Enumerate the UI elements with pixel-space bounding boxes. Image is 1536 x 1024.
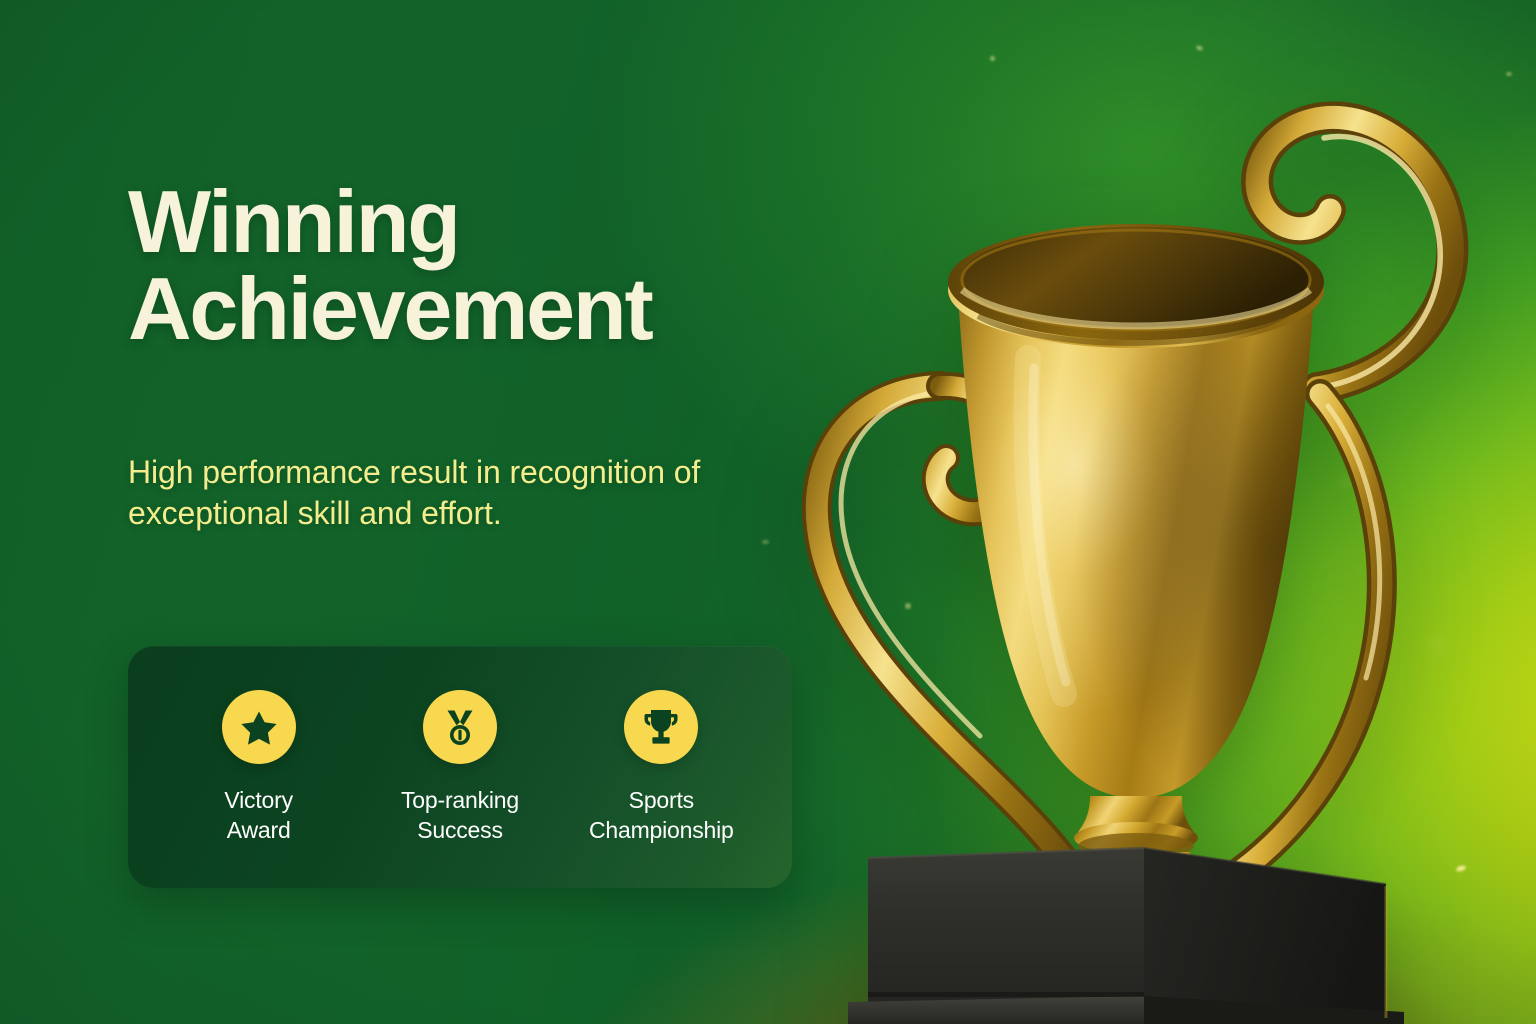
banner-content: Winning Achievement High performance res… bbox=[128, 0, 828, 1024]
star-icon bbox=[222, 690, 296, 764]
feature-label: Victory Award bbox=[224, 786, 292, 846]
page-subtitle: High performance result in recognition o… bbox=[128, 452, 708, 535]
achievement-banner: Winning Achievement High performance res… bbox=[0, 0, 1536, 1024]
feature-item-top-ranking-success[interactable]: Top-ranking Success bbox=[359, 690, 560, 846]
feature-label: Top-ranking Success bbox=[401, 786, 519, 846]
trophy-rim bbox=[948, 224, 1324, 348]
feature-card: Victory Award Top-ranking Success bbox=[128, 646, 792, 888]
trophy-pedestal-base bbox=[848, 848, 1404, 1024]
bokeh-speck bbox=[1506, 72, 1512, 76]
trophy-icon bbox=[624, 690, 698, 764]
feature-item-sports-championship[interactable]: Sports Championship bbox=[561, 690, 762, 846]
gold-trophy-image bbox=[772, 58, 1472, 1024]
feature-item-victory-award[interactable]: Victory Award bbox=[158, 690, 359, 846]
medal-icon bbox=[423, 690, 497, 764]
trophy-cup bbox=[958, 294, 1314, 798]
page-title: Winning Achievement bbox=[128, 178, 828, 352]
feature-label: Sports Championship bbox=[589, 786, 734, 846]
